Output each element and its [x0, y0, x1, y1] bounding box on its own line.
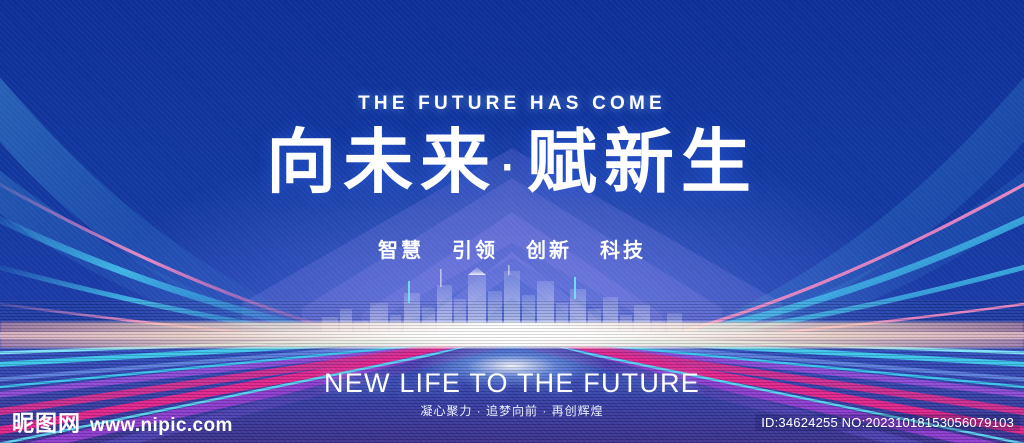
subtitle-keywords: 智慧引领创新科技: [0, 234, 1024, 263]
subtitle-keyword-1: 智慧: [378, 240, 424, 262]
image-id-label: ID:34624255 NO:20231018153056079103: [755, 414, 1020, 431]
page-title: 向未来·赋新生: [0, 127, 1024, 197]
subtitle-keyword-3: 创新: [526, 240, 572, 262]
watermark-site-url: www.nipic.com: [90, 416, 233, 435]
subtitle-keyword-4: 科技: [600, 240, 646, 262]
watermark-site-name: 昵图网: [12, 413, 81, 435]
subtitle-keyword-2: 引领: [452, 240, 498, 262]
title-left-text: 向未来: [266, 123, 497, 201]
title-separator-dot: ·: [497, 143, 527, 192]
eyebrow-heading: THE FUTURE HAS COME: [0, 93, 1024, 115]
watermark: 昵图网 www.nipic.com: [12, 413, 233, 435]
title-right-text: 赋新生: [527, 123, 758, 201]
footer-english-line: NEW LIFE TO THE FUTURE: [0, 368, 1024, 399]
poster-canvas: THE FUTURE HAS COME 向未来·赋新生 智慧引领创新科技 NEW…: [0, 0, 1024, 443]
